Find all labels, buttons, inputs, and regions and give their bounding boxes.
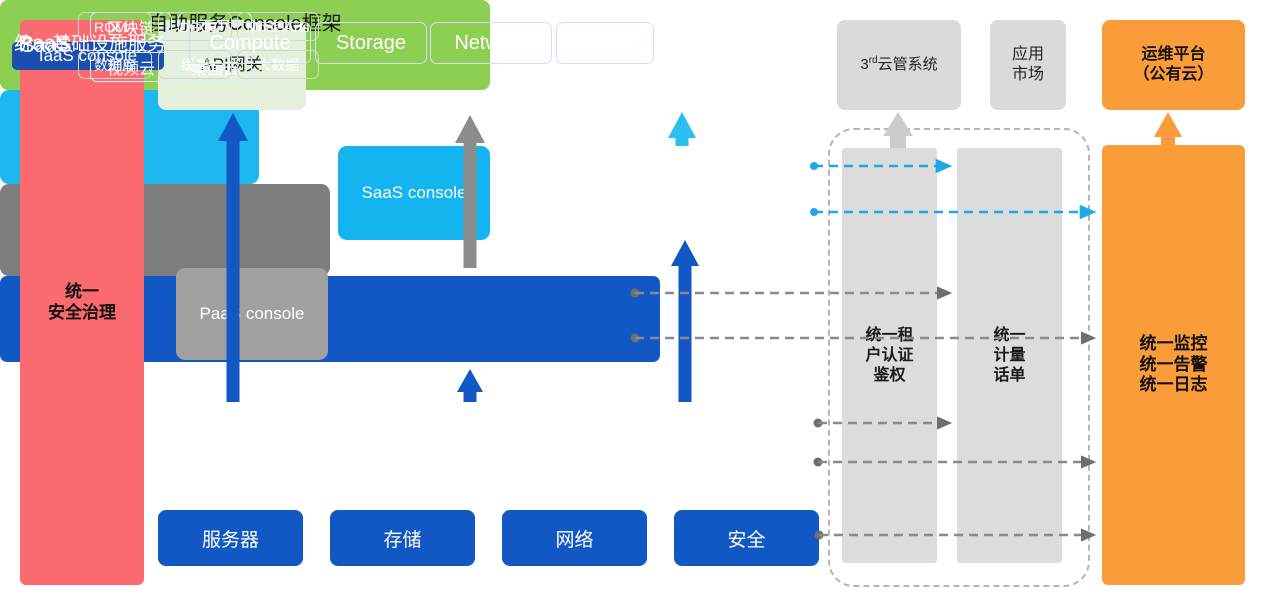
panel-unified-monitoring-alarm-log: 统一监控 统一告警 统一日志 bbox=[1102, 145, 1245, 585]
hardware-item-storage[interactable]: 存储 bbox=[330, 510, 475, 566]
hardware-item-network[interactable]: 网络 bbox=[502, 510, 647, 566]
arrow-saas-to-saas-console bbox=[668, 112, 696, 146]
infra-item-cce[interactable]: CCE bbox=[556, 22, 654, 64]
panel-unified-security-governance: 统一 安全治理 bbox=[20, 20, 144, 585]
arrow-infra-to-paas bbox=[457, 369, 483, 402]
arrow-infra-to-saas bbox=[671, 240, 699, 402]
box-app-market: 应用 市场 bbox=[990, 20, 1066, 110]
hardware-item-server[interactable]: 服务器 bbox=[158, 510, 303, 566]
arrow-to-ops-platform bbox=[1154, 112, 1182, 145]
infra-item-network[interactable]: Network bbox=[430, 22, 552, 64]
box-third-party-cloud-management: 3rd云管系统 bbox=[837, 20, 961, 110]
architecture-diagram: 统一 安全治理 API网关 自助服务Console框架 IaaS console… bbox=[0, 0, 1265, 605]
infra-item-storage[interactable]: Storage bbox=[315, 22, 427, 64]
infra-item-compute[interactable]: Compute bbox=[189, 22, 311, 64]
column-unified-metering-billing: 统一 计量 话单 bbox=[957, 148, 1062, 563]
hardware-item-security[interactable]: 安全 bbox=[674, 510, 819, 566]
box-ops-platform-public-cloud: 运维平台 （公有云） bbox=[1102, 20, 1245, 110]
infrastructure-label: 统一基础设施服务 bbox=[14, 29, 166, 56]
chip-paas-console[interactable]: PaaS console bbox=[176, 268, 328, 360]
third-party-label: 3rd云管系统 bbox=[860, 55, 937, 74]
chip-saas-console[interactable]: SaaS console bbox=[338, 146, 490, 240]
column-unified-tenant-auth: 统一租 户认证 鉴权 bbox=[842, 148, 937, 563]
